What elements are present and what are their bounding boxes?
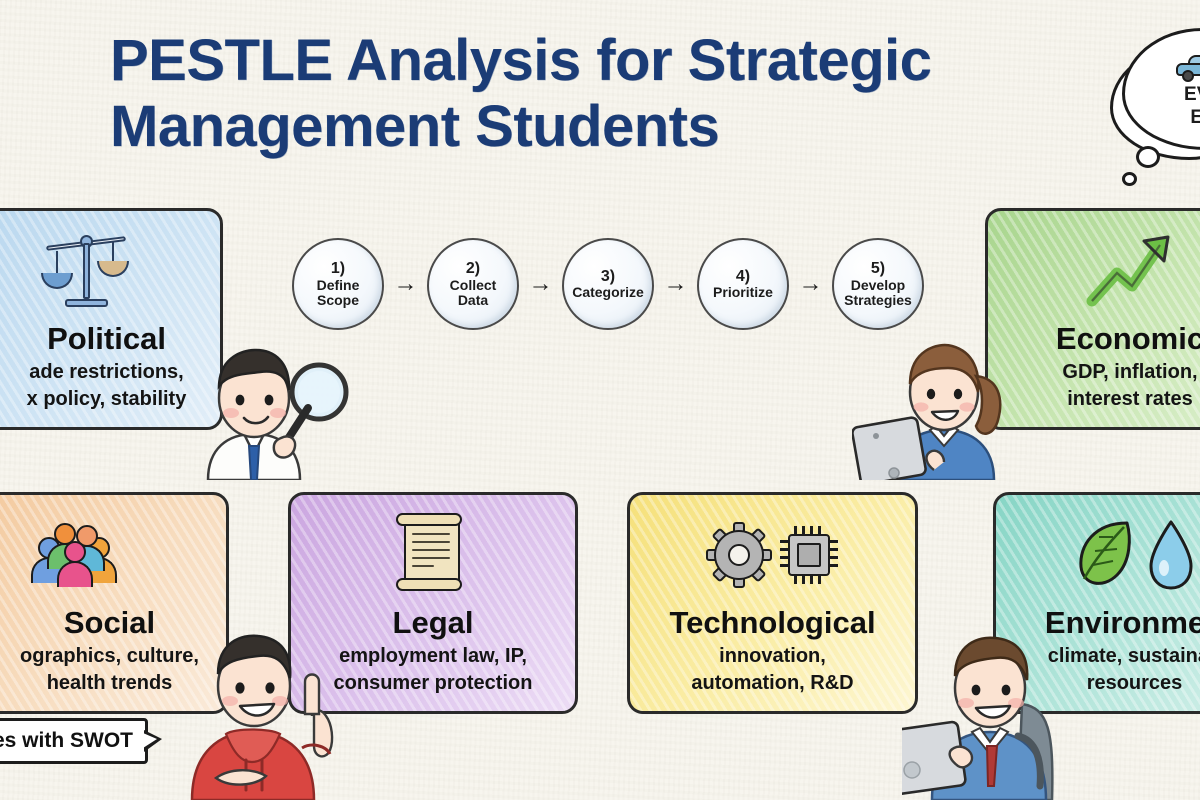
process-step-2-label: CollectData [447, 278, 500, 308]
infographic-stage: PESTLE Analysis for Strategic Management… [0, 0, 1200, 800]
water-droplet-icon [1145, 518, 1197, 592]
thought-bubble-dot-large [1136, 146, 1160, 168]
swot-callout-tail [144, 730, 162, 752]
thought-bubble-line1: EV I [1184, 84, 1200, 105]
card-desc-economic-line2: interest rates [1067, 387, 1193, 411]
process-step-3-label: Categorize [569, 285, 647, 300]
flow-arrow-2-icon: → [519, 272, 562, 296]
flow-arrow-4-icon: → [789, 272, 832, 296]
gear-icon [708, 524, 770, 586]
process-step-3-number: 3) [601, 268, 615, 285]
process-step-4-number: 4) [736, 268, 750, 285]
card-desc-social-line2: health trends [47, 671, 173, 695]
process-step-5-number: 5) [871, 260, 885, 277]
page-title: PESTLE Analysis for Strategic Management… [110, 28, 1010, 160]
flow-arrow-3-icon: → [654, 272, 697, 296]
process-step-5[interactable]: 5) DevelopStrategies [832, 238, 924, 330]
card-desc-environmental-line2: resources [1087, 671, 1183, 695]
leaf-and-droplet-icon [1073, 509, 1197, 601]
pestle-card-technological[interactable]: Technological innovation, automation, R&… [627, 492, 918, 714]
process-step-2[interactable]: 2) CollectData [427, 238, 519, 330]
card-title-legal: Legal [393, 605, 474, 641]
card-title-social: Social [64, 605, 155, 641]
student-pointing-hoodie [186, 600, 366, 800]
card-desc-legal-line1: employment law, IP, [339, 644, 527, 668]
people-group-icon [32, 509, 142, 601]
student-with-magnifier [186, 330, 356, 480]
process-step-3[interactable]: 3) Categorize [562, 238, 654, 330]
card-desc-political-line1: ade restrictions, [29, 360, 184, 384]
scales-of-justice-icon [40, 225, 132, 317]
page-title-line2: Management Students [110, 94, 1010, 160]
thought-bubble: EV I Ex [1122, 28, 1200, 168]
electric-car-icon [1176, 56, 1200, 82]
process-step-5-label: DevelopStrategies [841, 278, 915, 308]
process-step-4[interactable]: 4) Prioritize [697, 238, 789, 330]
microchip-icon [780, 526, 838, 584]
process-step-4-label: Prioritize [710, 285, 776, 300]
page-title-line1: PESTLE Analysis for Strategic [110, 28, 1010, 94]
swot-callout-text: ates with SWOT [0, 729, 133, 753]
gear-and-chip-icon [708, 509, 838, 601]
card-desc-technological-line2: automation, R&D [691, 671, 853, 695]
student-with-tablet-girl [852, 330, 1027, 480]
card-desc-political-line2: x policy, stability [27, 387, 187, 411]
card-desc-technological-line1: innovation, [719, 644, 826, 668]
process-step-1-number: 1) [331, 260, 345, 277]
flow-arrow-1-icon: → [384, 272, 427, 296]
card-desc-social-line1: ographics, culture, [20, 644, 199, 668]
thought-bubble-dot-small [1122, 172, 1137, 186]
card-desc-economic-line1: GDP, inflation, [1062, 360, 1197, 384]
process-step-2-number: 2) [466, 260, 480, 277]
swot-callout: ates with SWOT [0, 718, 148, 764]
card-title-economic: Economic [1056, 321, 1200, 357]
leaf-icon [1073, 517, 1135, 593]
process-step-1[interactable]: 1) DefineScope [292, 238, 384, 330]
card-title-technological: Technological [669, 605, 875, 641]
growth-arrow-icon [1084, 225, 1176, 317]
scroll-document-icon [394, 509, 472, 601]
process-flow: 1) DefineScope → 2) CollectData → 3) Cat… [292, 236, 924, 332]
thought-bubble-cloud: EV I Ex [1122, 28, 1200, 150]
card-title-political: Political [47, 321, 166, 357]
thought-bubble-line2: Ex [1190, 107, 1200, 128]
process-step-1-label: DefineScope [314, 278, 363, 308]
student-with-tablet-backpack [902, 600, 1077, 800]
